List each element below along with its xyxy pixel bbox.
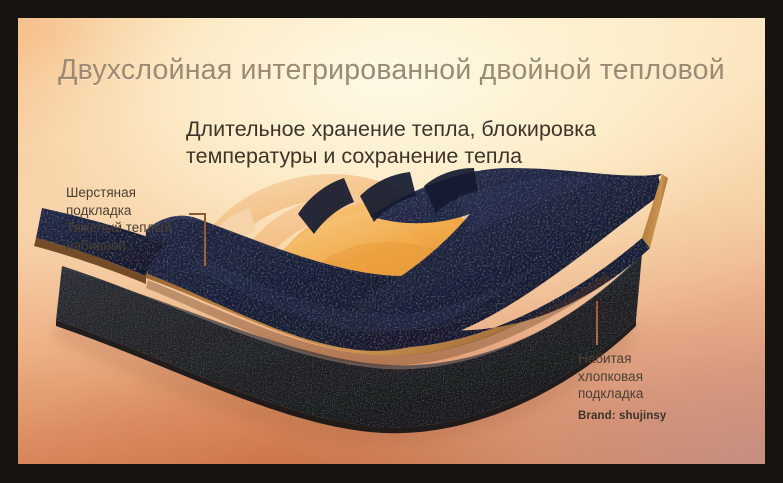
poster-frame: Двухслойная интегрированной двойной тепл… <box>0 0 783 483</box>
thermal-filling <box>188 174 514 335</box>
leader-line-left <box>184 211 206 266</box>
brand-label: Brand: shujinsy <box>578 410 666 422</box>
poster-canvas: Двухслойная интегрированной двойной тепл… <box>18 18 765 464</box>
fabric-shadow <box>54 318 638 444</box>
torn-edge <box>254 168 488 245</box>
leader-bar-left <box>204 213 206 266</box>
page-title: Двухслойная интегрированной двойной тепл… <box>18 54 765 87</box>
annotation-wool-lining: ШерстянаяподкладкаТяжелый теплыйнабивной <box>66 184 231 254</box>
leader-line-right <box>596 301 599 345</box>
bottom-layer <box>56 254 642 433</box>
page-subtitle: Длительное хранение тепла, блокировка те… <box>186 116 666 170</box>
leader-bar-right <box>596 301 598 345</box>
annotation-cotton-lining: Набитаяхлопковаяподкладка <box>578 350 748 403</box>
